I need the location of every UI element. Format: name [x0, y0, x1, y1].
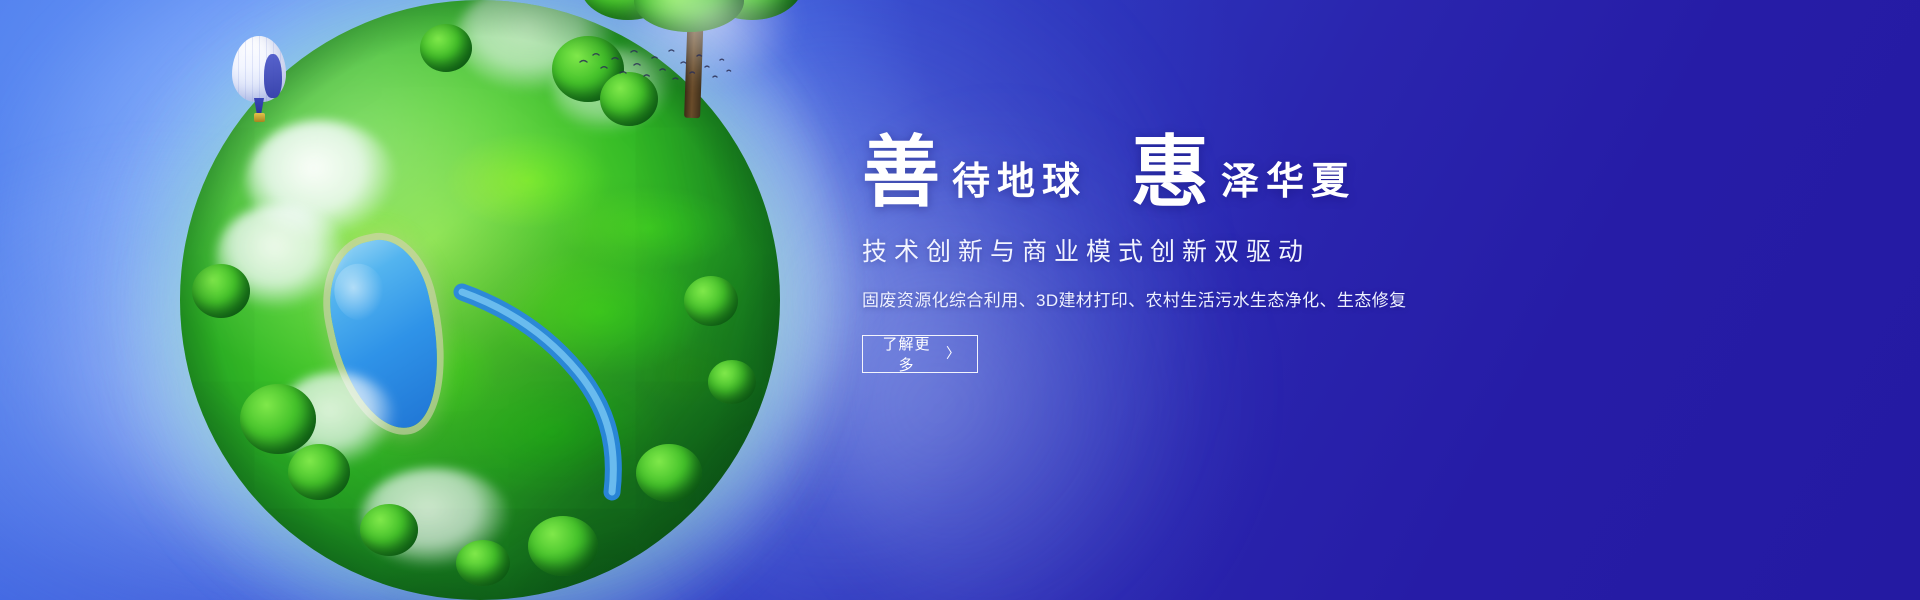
page-title: 善 待地球 惠 泽华夏	[862, 128, 1482, 206]
birds-icon	[576, 46, 736, 92]
learn-more-button[interactable]: 了解更多 〉	[862, 335, 978, 373]
balloon-basket	[254, 113, 265, 122]
balloon-panel	[264, 54, 282, 98]
balloon-neck	[254, 98, 264, 114]
hot-air-balloon-icon	[232, 36, 286, 128]
hero-banner: 善 待地球 惠 泽华夏 技术创新与商业模式创新双驱动 固废资源化综合利用、3D建…	[0, 0, 1920, 600]
headline-big-1: 善	[862, 134, 940, 212]
headline-big-2: 惠	[1131, 134, 1209, 212]
birds-flock-icon	[576, 46, 736, 92]
subtitle: 技术创新与商业模式创新双驱动	[862, 232, 1482, 268]
headline-small-2: 泽华夏	[1209, 162, 1356, 200]
description: 固废资源化综合利用、3D建材打印、农村生活污水生态净化、生态修复	[862, 286, 1482, 311]
learn-more-label: 了解更多	[879, 333, 934, 375]
headline-small-1: 待地球	[940, 162, 1087, 200]
chevron-right-icon: 〉	[946, 346, 961, 360]
balloon-envelope	[232, 36, 286, 102]
hero-copy: 善 待地球 惠 泽华夏 技术创新与商业模式创新双驱动 固废资源化综合利用、3D建…	[862, 128, 1482, 373]
